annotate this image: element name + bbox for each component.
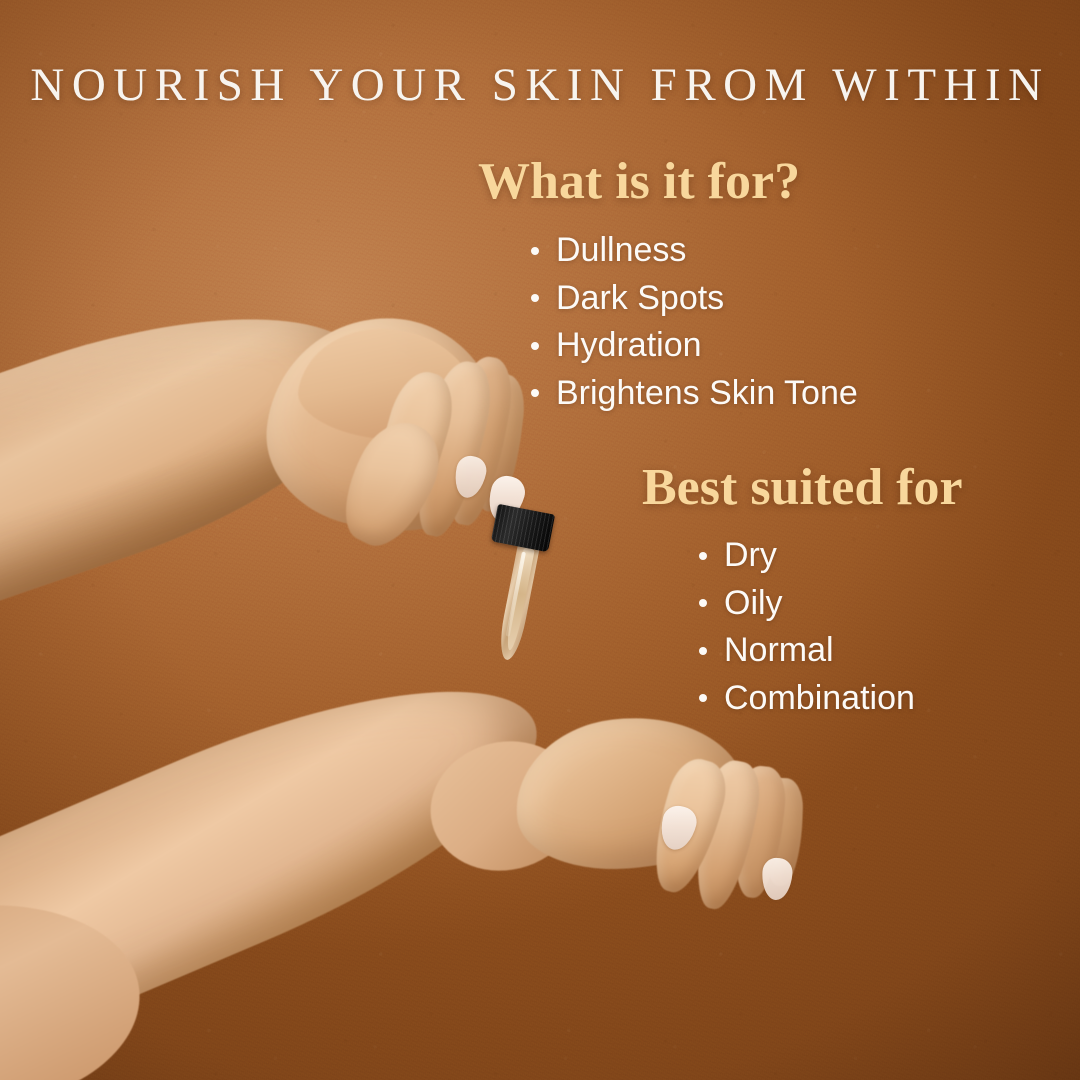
page-title: NOURISH YOUR SKIN FROM WITHIN [0,58,1080,112]
benefits-list: Dullness Dark Spots Hydration Brightens … [531,227,858,417]
list-item: Oily [699,580,915,628]
list-item: Hydration [531,322,858,370]
skin-types-list: Dry Oily Normal Combination [699,532,915,722]
list-item: Combination [699,675,915,723]
list-item: Dark Spots [531,275,858,323]
poster-canvas: NOURISH YOUR SKIN FROM WITHIN What is it… [0,0,1080,1080]
list-item: Dullness [531,227,858,275]
section-heading-what-is-it-for: What is it for? [478,156,800,208]
list-item: Dry [699,532,915,580]
section-heading-best-suited-for: Best suited for [642,462,963,514]
list-item: Normal [699,627,915,675]
list-item: Brightens Skin Tone [531,370,858,418]
